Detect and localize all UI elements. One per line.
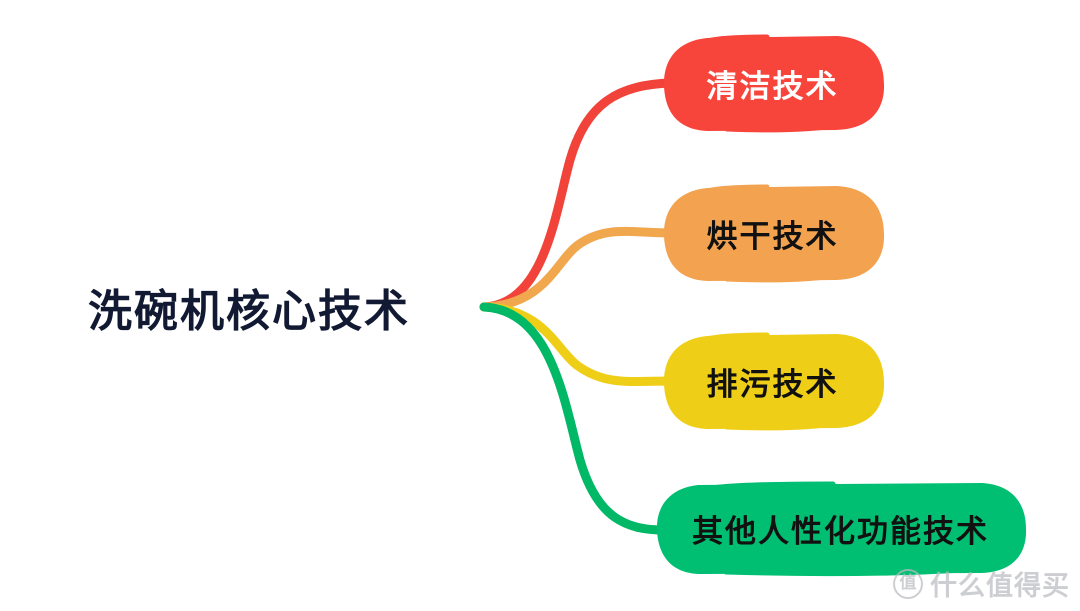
watermark-logo-icon: 值 [893,569,923,599]
connector-other [484,307,668,530]
branch-label-drainage: 排污技术 [707,359,839,404]
branch-node-drainage[interactable]: 排污技术 [655,328,890,434]
branch-node-other[interactable]: 其他人性化功能技术 [648,478,1033,578]
watermark: 值 什么值得买 [893,564,1070,603]
branch-label-drying: 烘干技术 [707,211,839,256]
branch-node-drying[interactable]: 烘干技术 [655,180,890,286]
watermark-text: 什么值得买 [930,564,1070,603]
root-node[interactable]: 洗碗机核心技术 [88,272,488,342]
branch-label-other: 其他人性化功能技术 [692,506,989,551]
mindmap-canvas: 洗碗机核心技术 清洁技术 烘干技术 排污技术 其他人性化功能技术 [0,0,1080,611]
branch-node-cleaning[interactable]: 清洁技术 [655,30,890,136]
branch-label-cleaning: 清洁技术 [707,61,839,106]
connector-cleaning [484,83,672,307]
root-node-label: 洗碗机核心技术 [88,275,410,339]
